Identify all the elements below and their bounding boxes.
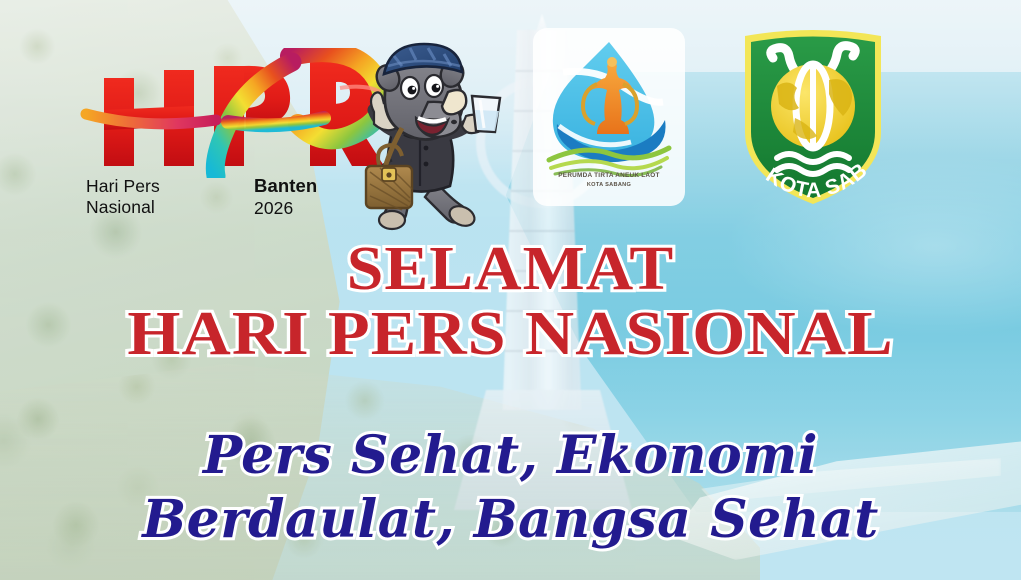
hpn-year-label: 2026 — [254, 198, 293, 219]
perumda-tirta-aneuk-laot-logo: PERUMDA TIRTA ANEUK LAOT KOTA SABANG — [533, 28, 685, 206]
rhino-mascot — [336, 40, 504, 238]
hpn-region-label: Banten — [254, 175, 317, 197]
perumda-text-line1: PERUMDA TIRTA ANEUK LAOT — [533, 172, 685, 179]
perumda-text-line2: KOTA SABANG — [533, 182, 685, 188]
hpn-caption-line2: Nasional — [86, 197, 155, 218]
headline: SELAMAT HARI PERS NASIONAL — [0, 236, 1021, 366]
tagline-line1: Pers Sehat, Ekonomi — [0, 424, 1021, 488]
headline-line1: SELAMAT — [0, 236, 1021, 302]
hpn-caption-line1: Hari Pers — [86, 176, 160, 197]
greeting-poster: Hari Pers Nasional Banten 2026 — [0, 0, 1021, 580]
kota-sabang-emblem: KOTA SABANG — [733, 22, 893, 210]
tagline: Pers Sehat, Ekonomi Berdaulat, Bangsa Se… — [0, 424, 1021, 552]
headline-line2: HARI PERS NASIONAL — [0, 302, 1021, 366]
tagline-line2: Berdaulat, Bangsa Sehat — [0, 488, 1021, 552]
water-droplet-icon — [533, 28, 685, 178]
